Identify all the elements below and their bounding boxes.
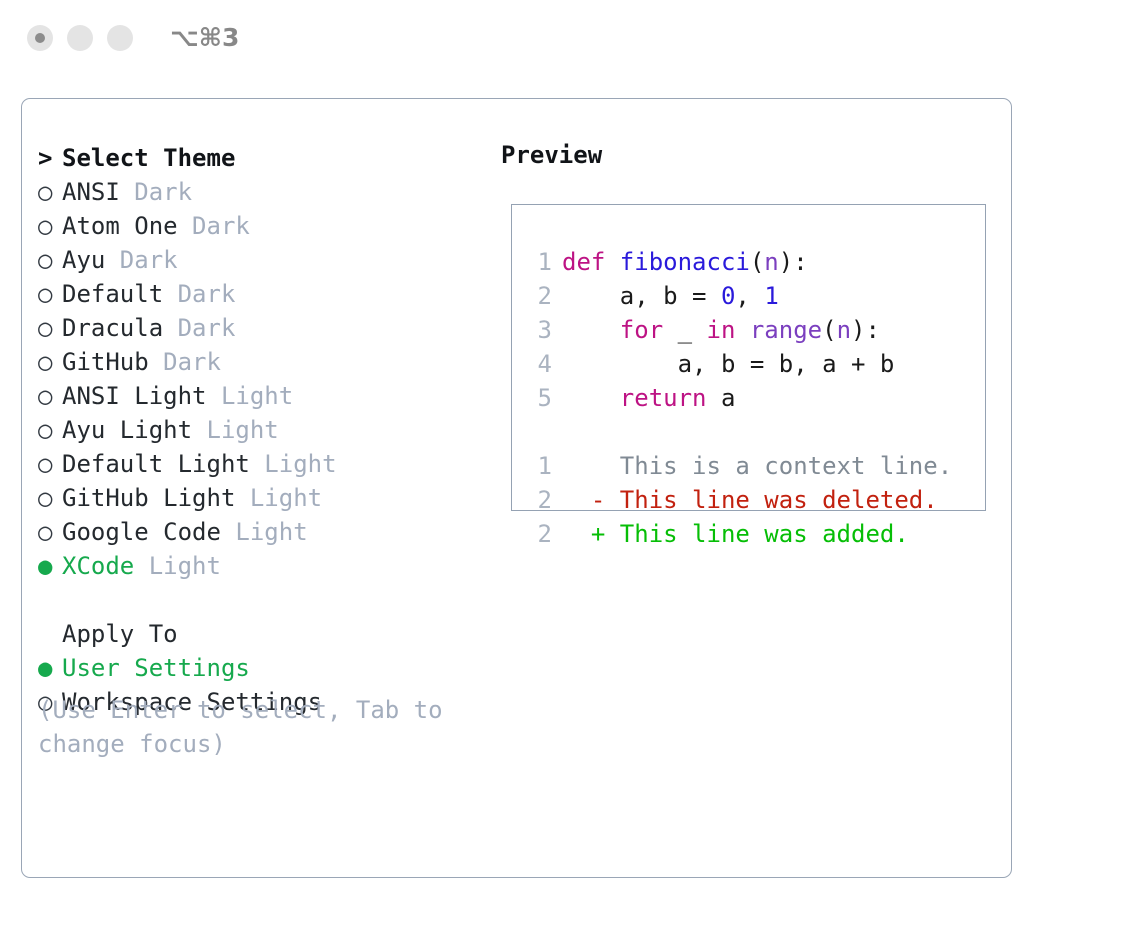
- theme-name-label: Ayu Light: [62, 416, 192, 444]
- code-token: ):: [779, 248, 808, 276]
- traffic-light-maximize-icon[interactable]: [107, 25, 133, 51]
- line-number: 3: [526, 313, 552, 347]
- preview-header-label: Preview: [501, 141, 602, 169]
- radio-unselected-icon[interactable]: ○: [38, 243, 62, 277]
- traffic-light-close-icon[interactable]: [27, 25, 53, 51]
- theme-name-label: Google Code: [62, 518, 221, 546]
- line-number: 2: [526, 279, 552, 313]
- diff-line: 2 - This line was deleted.: [526, 483, 976, 517]
- caret-icon: >: [38, 141, 62, 175]
- code-token: range: [750, 316, 822, 344]
- code-line: 4 a, b = b, a + b: [526, 347, 976, 381]
- theme-list-item[interactable]: ○ANSI Dark: [38, 175, 488, 209]
- code-line: 1def fibonacci(n):: [526, 245, 976, 279]
- code-token: _: [678, 316, 707, 344]
- radio-selected-icon[interactable]: ●: [38, 651, 62, 685]
- code-token: return: [620, 384, 721, 412]
- theme-list-item[interactable]: ○GitHub Dark: [38, 345, 488, 379]
- theme-type-label: Dark: [178, 212, 250, 240]
- apply-to-label: User Settings: [62, 654, 250, 682]
- theme-name-label: ANSI Light: [62, 382, 207, 410]
- code-token: a: [721, 384, 735, 412]
- radio-unselected-icon[interactable]: ○: [38, 481, 62, 515]
- theme-list-item[interactable]: ●XCode Light: [38, 549, 488, 583]
- theme-list-item[interactable]: ○ANSI Light Light: [38, 379, 488, 413]
- code-token: (: [750, 248, 764, 276]
- theme-list-item[interactable]: ○Google Code Light: [38, 515, 488, 549]
- radio-selected-icon[interactable]: ●: [38, 549, 62, 583]
- section-spacer: [38, 583, 488, 617]
- code-token: ):: [851, 316, 880, 344]
- theme-name-label: XCode: [62, 552, 134, 580]
- radio-unselected-icon[interactable]: ○: [38, 379, 62, 413]
- keyboard-shortcut-label: ⌥⌘3: [170, 23, 239, 52]
- theme-name-label: GitHub: [62, 348, 149, 376]
- line-number: 1: [526, 245, 552, 279]
- apply-to-header: ○Apply To: [38, 617, 488, 651]
- diff-marker: [562, 452, 605, 480]
- line-number: 4: [526, 347, 552, 381]
- theme-list-item[interactable]: ○Dracula Dark: [38, 311, 488, 345]
- diff-marker: +: [562, 520, 605, 548]
- theme-name-label: GitHub Light: [62, 484, 235, 512]
- radio-unselected-icon[interactable]: ○: [38, 277, 62, 311]
- line-number: 1: [526, 449, 552, 483]
- apply-to-marker-placeholder: ○: [38, 617, 62, 651]
- theme-type-label: Light: [207, 382, 294, 410]
- theme-name-label: Default Light: [62, 450, 250, 478]
- traffic-light-minimize-icon[interactable]: [67, 25, 93, 51]
- theme-list-item[interactable]: ○Ayu Dark: [38, 243, 488, 277]
- diff-sample: 1 This is a context line.2 - This line w…: [526, 449, 976, 551]
- traffic-light-active-dot: [35, 33, 45, 43]
- apply-to-item[interactable]: ●User Settings: [38, 651, 488, 685]
- diff-line: 2 + This line was added.: [526, 517, 976, 551]
- code-token: n: [764, 248, 778, 276]
- theme-selection-column: >Select Theme ○ANSI Dark○Atom One Dark○A…: [38, 141, 488, 719]
- code-token: 0: [721, 282, 735, 310]
- title-bar: ⌥⌘3: [0, 0, 1140, 78]
- theme-type-label: Dark: [149, 348, 221, 376]
- radio-unselected-icon[interactable]: ○: [38, 515, 62, 549]
- app-window: ⌥⌘3 >Select Theme ○ANSI Dark○Atom One Da…: [0, 0, 1140, 934]
- code-token: for: [620, 316, 678, 344]
- code-diff-spacer: [526, 415, 976, 449]
- code-token: def: [562, 248, 620, 276]
- radio-unselected-icon[interactable]: ○: [38, 175, 62, 209]
- theme-type-label: Light: [134, 552, 221, 580]
- code-token: fibonacci: [620, 248, 750, 276]
- code-token: a, b =: [562, 282, 721, 310]
- diff-text: This line was deleted.: [605, 486, 937, 514]
- line-number: 5: [526, 381, 552, 415]
- code-token: a, b = b, a + b: [562, 350, 894, 378]
- code-token: (: [822, 316, 836, 344]
- code-token: n: [837, 316, 851, 344]
- theme-list: ○ANSI Dark○Atom One Dark○Ayu Dark○Defaul…: [38, 175, 488, 583]
- code-token: in: [707, 316, 750, 344]
- radio-unselected-icon[interactable]: ○: [38, 209, 62, 243]
- code-line: 5 return a: [526, 381, 976, 415]
- theme-name-label: Dracula: [62, 314, 163, 342]
- theme-list-item[interactable]: ○Atom One Dark: [38, 209, 488, 243]
- diff-text: This line was added.: [605, 520, 908, 548]
- code-token: 1: [764, 282, 778, 310]
- theme-list-item[interactable]: ○GitHub Light Light: [38, 481, 488, 515]
- select-theme-header-label: Select Theme: [62, 144, 235, 172]
- radio-unselected-icon[interactable]: ○: [38, 311, 62, 345]
- theme-type-label: Light: [221, 518, 308, 546]
- code-token: ,: [735, 282, 764, 310]
- line-number: 2: [526, 483, 552, 517]
- code-sample: 1def fibonacci(n):2 a, b = 0, 13 for _ i…: [526, 245, 976, 415]
- theme-type-label: Dark: [120, 178, 192, 206]
- theme-name-label: Ayu: [62, 246, 105, 274]
- preview-code-area: 1def fibonacci(n):2 a, b = 0, 13 for _ i…: [526, 245, 976, 551]
- theme-name-label: Default: [62, 280, 163, 308]
- theme-name-label: Atom One: [62, 212, 178, 240]
- code-line: 2 a, b = 0, 1: [526, 279, 976, 313]
- main-panel: >Select Theme ○ANSI Dark○Atom One Dark○A…: [21, 98, 1012, 878]
- diff-marker: -: [562, 486, 605, 514]
- theme-type-label: Dark: [163, 280, 235, 308]
- code-line: 3 for _ in range(n):: [526, 313, 976, 347]
- theme-type-label: Light: [235, 484, 322, 512]
- radio-unselected-icon[interactable]: ○: [38, 413, 62, 447]
- line-number: 2: [526, 517, 552, 551]
- theme-list-item[interactable]: ○Default Light Light: [38, 447, 488, 481]
- keyboard-hint-text: (Use Enter to select, Tab to change focu…: [38, 693, 458, 761]
- theme-type-label: Dark: [105, 246, 177, 274]
- theme-name-label: ANSI: [62, 178, 120, 206]
- radio-unselected-icon[interactable]: ○: [38, 345, 62, 379]
- radio-unselected-icon[interactable]: ○: [38, 447, 62, 481]
- code-token: [562, 316, 620, 344]
- theme-type-label: Dark: [163, 314, 235, 342]
- theme-list-item[interactable]: ○Default Dark: [38, 277, 488, 311]
- apply-to-header-label: Apply To: [62, 620, 178, 648]
- diff-line: 1 This is a context line.: [526, 449, 976, 483]
- select-theme-header: >Select Theme: [38, 141, 488, 175]
- theme-type-label: Light: [250, 450, 337, 478]
- diff-text: This is a context line.: [605, 452, 952, 480]
- code-token: [562, 384, 620, 412]
- preview-box: 1def fibonacci(n):2 a, b = 0, 13 for _ i…: [511, 204, 986, 511]
- theme-type-label: Light: [192, 416, 279, 444]
- theme-list-item[interactable]: ○Ayu Light Light: [38, 413, 488, 447]
